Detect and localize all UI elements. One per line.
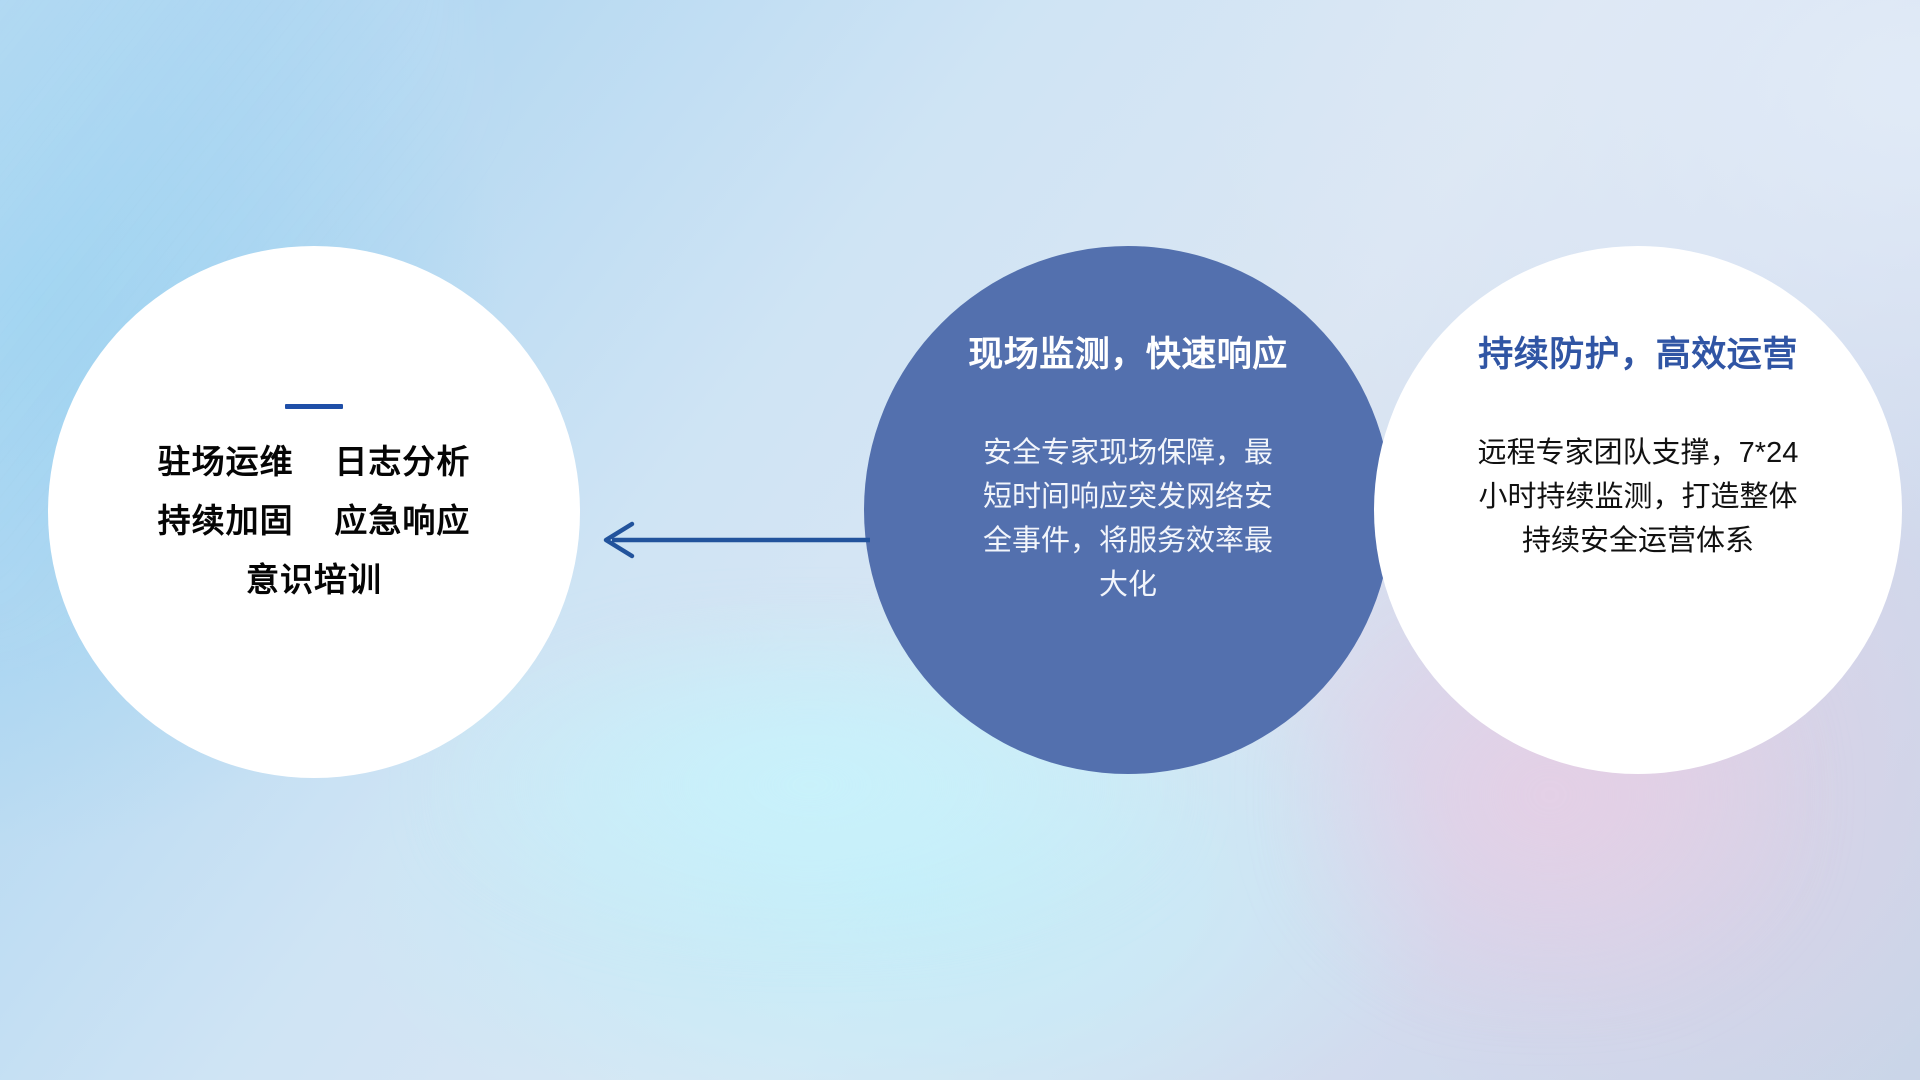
right-service-circle[interactable]: 持续防护，高效运营 远程专家团队支撑，7*24小时持续监测，打造整体持续安全运营…	[1374, 246, 1902, 774]
list-item: 持续加固 应急响应	[48, 504, 580, 537]
slide-canvas: 驻场运维 日志分析 持续加固 应急响应 意识培训 现场监测，快速响应 安全专家现…	[0, 0, 1920, 1080]
flow-arrow-left-icon	[598, 516, 874, 564]
left-circle-capability-list: 驻场运维 日志分析 持续加固 应急响应 意识培训	[48, 445, 580, 596]
list-item: 驻场运维 日志分析	[48, 445, 580, 478]
accent-dash-divider	[285, 404, 343, 409]
middle-service-circle[interactable]: 现场监测，快速响应 安全专家现场保障，最短时间响应突发网络安全事件，将服务效率最…	[864, 246, 1392, 774]
middle-circle-title: 现场监测，快速响应	[968, 326, 1288, 377]
left-outcome-circle[interactable]: 驻场运维 日志分析 持续加固 应急响应 意识培训	[48, 246, 580, 778]
right-circle-body: 远程专家团队支撑，7*24小时持续监测，打造整体持续安全运营体系	[1466, 431, 1811, 563]
middle-circle-body: 安全专家现场保障，最短时间响应突发网络安全事件，将服务效率最大化	[973, 431, 1283, 607]
right-circle-title: 持续防护，高效运营	[1478, 326, 1798, 377]
list-item: 意识培训	[48, 563, 580, 596]
